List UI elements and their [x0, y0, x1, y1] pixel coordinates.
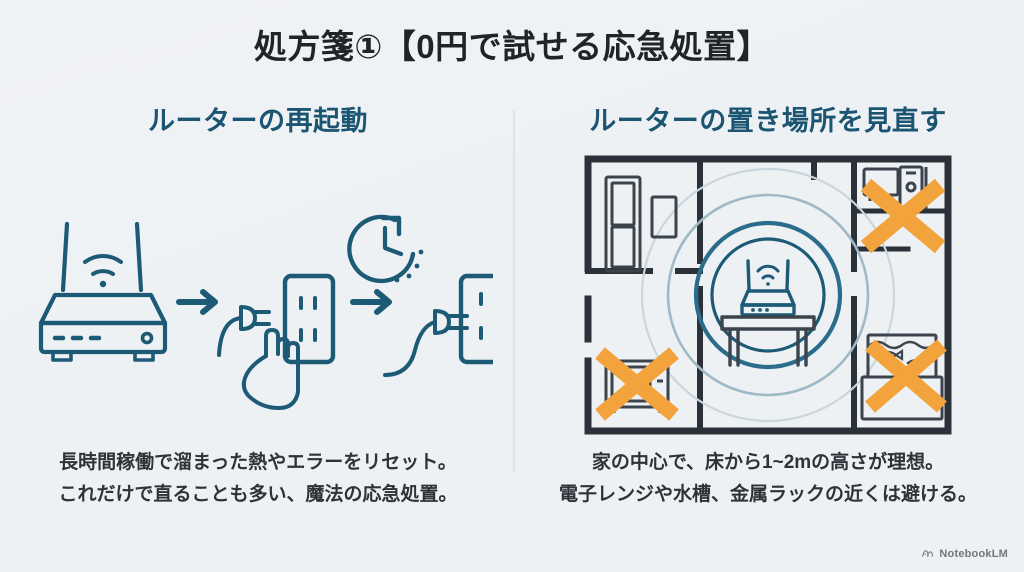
side-table-icon: [652, 197, 676, 237]
caption-line: 電子レンジや水槽、金属ラックの近くは避ける。: [528, 479, 1008, 510]
router-on-table-icon: [722, 261, 814, 365]
router-restart-svg: [23, 180, 493, 410]
x-mark-appliance: [866, 185, 940, 247]
panel-router-restart: ルーターの再起動: [18, 104, 498, 534]
wall-outlet-icon-1: [285, 276, 333, 362]
clock-wait-icon: [349, 217, 423, 282]
panel-caption-left: 長時間稼働で溜まった熱やエラーをリセット。 これだけで直ることも多い、魔法の応急…: [18, 447, 498, 510]
arrow-right-icon-1: [179, 292, 215, 312]
wifi-router-icon: [41, 224, 165, 360]
panel-caption-right: 家の中心で、床から1~2mの高さが理想。 電子レンジや水槽、金属ラックの近くは避…: [528, 447, 1008, 510]
panel-heading-left: ルーターの再起動: [18, 104, 498, 139]
router-restart-illustration: [18, 145, 498, 445]
caption-line: 家の中心で、床から1~2mの高さが理想。: [528, 447, 1008, 478]
router-placement-floorplan: [528, 145, 1008, 445]
caption-line: これだけで直ることも多い、魔法の応急処置。: [18, 479, 498, 510]
panel-heading-right: ルーターの置き場所を見直す: [528, 104, 1008, 139]
pointing-hand-icon: [244, 330, 298, 408]
caption-line: 長時間稼働で溜まった熱やエラーをリセット。: [18, 447, 498, 478]
page-title: 処方箋①【0円で試せる応急処置】: [0, 26, 1024, 67]
arrow-right-icon-2: [353, 292, 389, 312]
watermark-label: NotebookLM: [939, 548, 1008, 560]
power-plug-unplugged-icon: [219, 307, 269, 355]
watermark: NotebookLM: [921, 547, 1008, 560]
sofa-icon: [606, 177, 640, 271]
panel-divider: [513, 110, 515, 472]
slide-root: 処方箋①【0円で試せる応急処置】 ルーターの再起動: [0, 0, 1024, 572]
notebooklm-logo-icon: [921, 547, 934, 560]
panel-router-placement: ルーターの置き場所を見直す: [528, 104, 1008, 534]
wall-outlet-icon-2: [461, 276, 493, 362]
floorplan-svg: [578, 149, 958, 441]
power-plug-plugged-icon: [385, 311, 467, 375]
